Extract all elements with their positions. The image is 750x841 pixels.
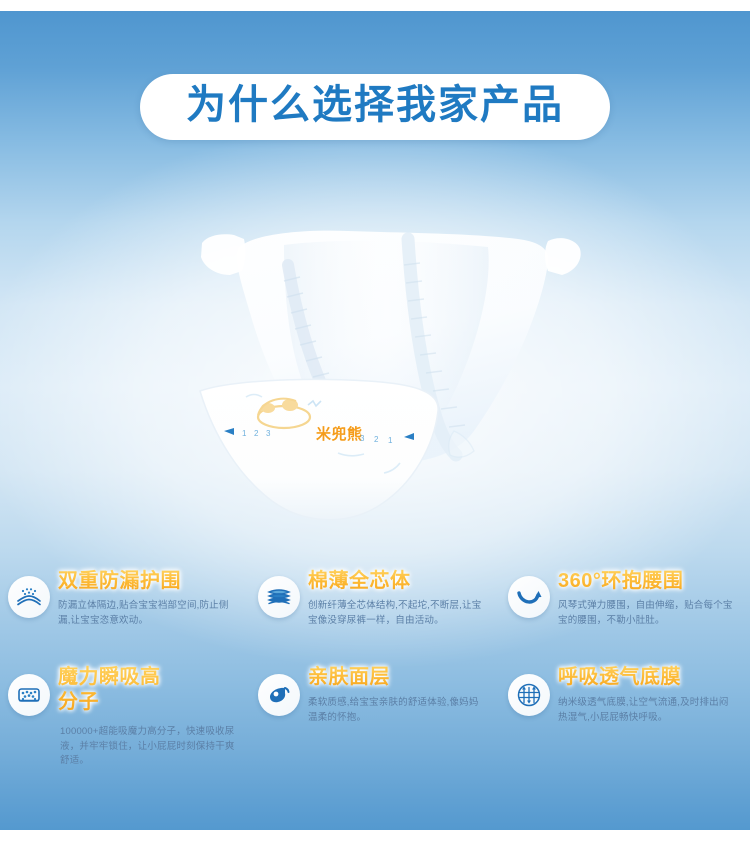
thin-core-layers-icon	[258, 576, 300, 618]
right-waist-tab	[545, 238, 581, 275]
feature-body: 魔力瞬吸高 分子 100000+超能吸魔力高分子，快速吸收尿液，并牢牢锁住，让小…	[58, 663, 250, 769]
feature-desc: 柔软质感,给宝宝亲肤的舒适体验,像妈妈温柔的怀抱。	[308, 696, 486, 725]
svg-text:3: 3	[360, 434, 365, 443]
product-image: 米兜熊 1 2 3 3 2 1	[188, 205, 588, 535]
feature-body: 双重防漏护围 防漏立体隔边,贴合宝宝裆部空间,防止侧漏,让宝宝恣意欢动。	[58, 565, 250, 628]
feature-item-leak-guard[interactable]: 双重防漏护围 防漏立体隔边,贴合宝宝裆部空间,防止侧漏,让宝宝恣意欢动。	[0, 565, 250, 663]
breathable-film-icon	[508, 674, 550, 716]
layered-leak-guard-icon	[8, 576, 50, 618]
bottom-white-strip	[0, 830, 750, 841]
feature-title: 呼吸透气底膜	[558, 665, 750, 690]
svg-text:3: 3	[266, 429, 271, 438]
svg-text:2: 2	[374, 435, 379, 444]
page-title: 为什么选择我家产品	[186, 83, 564, 127]
product-feature-page: 为什么选择我家产品	[0, 0, 750, 841]
heading-pill: 为什么选择我家产品	[140, 74, 610, 140]
feature-item-soft-surface[interactable]: 亲肤面层 柔软质感,给宝宝亲肤的舒适体验,像妈妈温柔的怀抱。	[250, 663, 500, 769]
feature-title: 亲肤面层	[308, 665, 500, 690]
features-grid: 双重防漏护围 防漏立体隔边,贴合宝宝裆部空间,防止侧漏,让宝宝恣意欢动。 棉薄全…	[0, 565, 750, 769]
feature-title: 棉薄全芯体	[308, 569, 500, 594]
left-waist-tab	[201, 234, 245, 275]
soft-skin-surface-icon	[258, 674, 300, 716]
feature-desc: 纳米级透气底膜,让空气流通,及时排出闷热湿气,小屁屁畅快呼吸。	[558, 696, 736, 725]
diaper-front-panel	[200, 379, 438, 519]
top-white-strip	[0, 0, 750, 11]
absorbent-polymer-icon	[8, 674, 50, 716]
svg-text:1: 1	[388, 436, 393, 445]
feature-desc: 100000+超能吸魔力高分子，快速吸收尿液，并牢牢锁住，让小屁屁时刻保持干爽舒…	[58, 725, 236, 769]
feature-item-thin-core[interactable]: 棉薄全芯体 创新纤薄全芯体结构,不起坨,不断层,让宝宝像没穿尿裤一样，自由活动。	[250, 565, 500, 663]
feature-body: 360°环抱腰围 风琴式弹力腰围，自由伸缩，贴合每个宝宝的腰围，不勒小肚肚。	[558, 565, 750, 628]
svg-text:2: 2	[254, 429, 259, 438]
diaper-illustration: 米兜熊 1 2 3 3 2 1	[188, 205, 588, 535]
feature-desc: 防漏立体隔边,贴合宝宝裆部空间,防止侧漏,让宝宝恣意欢动。	[58, 599, 236, 628]
feature-item-waist-wrap[interactable]: 360°环抱腰围 风琴式弹力腰围，自由伸缩，贴合每个宝宝的腰围，不勒小肚肚。	[500, 565, 750, 663]
waist-wrap-arrow-icon	[508, 576, 550, 618]
brand-logo-text: 米兜熊	[316, 425, 363, 443]
heading-container: 为什么选择我家产品	[0, 74, 750, 140]
feature-title: 双重防漏护围	[58, 569, 250, 594]
feature-item-absorbent-polymer[interactable]: 魔力瞬吸高 分子 100000+超能吸魔力高分子，快速吸收尿液，并牢牢锁住，让小…	[0, 663, 250, 769]
feature-item-breathable-film[interactable]: 呼吸透气底膜 纳米级透气底膜,让空气流通,及时排出闷热湿气,小屁屁畅快呼吸。	[500, 663, 750, 769]
feature-body: 棉薄全芯体 创新纤薄全芯体结构,不起坨,不断层,让宝宝像没穿尿裤一样，自由活动。	[308, 565, 500, 628]
feature-body: 亲肤面层 柔软质感,给宝宝亲肤的舒适体验,像妈妈温柔的怀抱。	[308, 663, 500, 725]
feature-desc: 创新纤薄全芯体结构,不起坨,不断层,让宝宝像没穿尿裤一样，自由活动。	[308, 599, 486, 628]
feature-title: 魔力瞬吸高 分子	[58, 665, 250, 715]
feature-body: 呼吸透气底膜 纳米级透气底膜,让空气流通,及时排出闷热湿气,小屁屁畅快呼吸。	[558, 663, 750, 725]
feature-title: 360°环抱腰围	[558, 569, 750, 594]
svg-text:1: 1	[242, 429, 247, 438]
feature-desc: 风琴式弹力腰围，自由伸缩，贴合每个宝宝的腰围，不勒小肚肚。	[558, 599, 736, 628]
